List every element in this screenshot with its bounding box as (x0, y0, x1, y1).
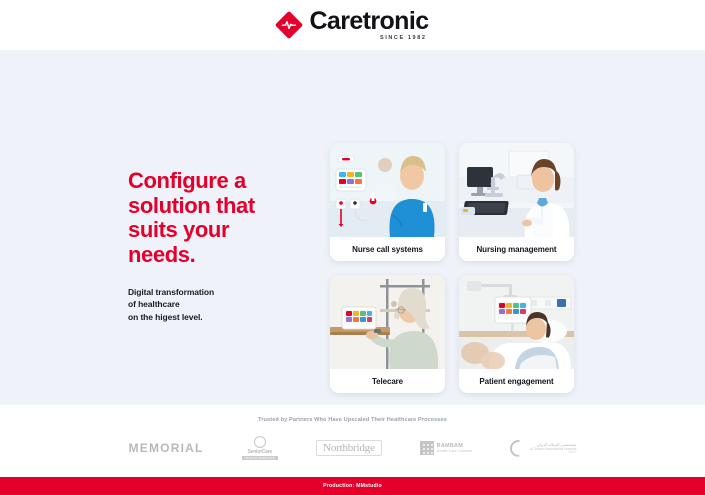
card-telecare[interactable]: Telecare (330, 275, 445, 393)
partner-logo-row: MEMORIAL SeniorCare HEALTH SERVICES Nort… (0, 436, 705, 460)
partner-sub-rambam: Health Care Campus (437, 449, 472, 453)
partner-sub-alsalam: 1982 (568, 451, 576, 455)
crescent-icon (510, 440, 527, 457)
partner-logo-rambam: RAMBAM Health Care Campus (420, 441, 472, 455)
hero-title-line-3: suits your (128, 217, 229, 242)
card-label-telecare: Telecare (330, 369, 445, 393)
partner-name-northbridge: Northbridge (316, 440, 382, 456)
footer-credit: Production: MMstudio (323, 483, 382, 489)
card-image-nurse-call-systems (330, 143, 445, 237)
brand-logo[interactable]: Caretronic SINCE 1982 (276, 9, 428, 42)
hero-subtitle-line-2: of healthcare (128, 299, 180, 309)
hero-title-line-1: Configure a (128, 168, 246, 193)
hero-copy: Configure a solution that suits your nee… (128, 169, 303, 324)
page-title: Configure a solution that suits your nee… (128, 169, 303, 268)
partner-logo-alsalam: مستشفى السلام الدولي Al Salam Internatio… (510, 440, 576, 457)
partner-logo-seniorcare: SeniorCare HEALTH SERVICES (242, 436, 279, 460)
brand-wordmark: Caretronic (309, 9, 428, 34)
solution-card-grid: Nurse call systems (330, 143, 574, 393)
partners-section: Trusted by Partners Who Have Upscaled Th… (0, 405, 705, 477)
card-nursing-management[interactable]: Nursing management (459, 143, 574, 261)
hero-section: Configure a solution that suits your nee… (0, 50, 705, 405)
hero-subtitle-line-3: on the higest level. (128, 312, 203, 322)
seniorcare-ring-icon (254, 436, 266, 448)
partner-sub-seniorcare: HEALTH SERVICES (242, 456, 279, 460)
brand-tagline: SINCE 1982 (380, 36, 427, 42)
card-patient-engagement[interactable]: Patient engagement (459, 275, 574, 393)
rambam-emblem-icon (420, 441, 434, 455)
caretronic-diamond-pulse-icon (276, 12, 302, 38)
card-image-telecare (330, 275, 445, 369)
card-label-patient-engagement: Patient engagement (459, 369, 574, 393)
card-label-nursing-management: Nursing management (459, 237, 574, 261)
hero-subtitle-line-1: Digital transformation (128, 287, 214, 297)
partner-logo-northbridge: Northbridge (316, 440, 382, 456)
hero-subtitle: Digital transformation of healthcare on … (128, 286, 303, 324)
hero-title-line-4: needs. (128, 242, 195, 267)
page-root: Caretronic SINCE 1982 Configure a soluti… (0, 0, 705, 495)
card-nurse-call-systems[interactable]: Nurse call systems (330, 143, 445, 261)
card-label-nurse-call-systems: Nurse call systems (330, 237, 445, 261)
site-header: Caretronic SINCE 1982 (0, 0, 705, 50)
card-image-patient-engagement (459, 275, 574, 369)
partner-logo-memorial: MEMORIAL (129, 441, 204, 455)
brand-wordmark-group: Caretronic SINCE 1982 (309, 9, 428, 42)
hero-title-line-2: solution that (128, 193, 255, 218)
partner-name-memorial: MEMORIAL (129, 441, 204, 455)
card-image-nursing-management (459, 143, 574, 237)
partner-name-seniorcare: SeniorCare (247, 449, 272, 455)
partners-title: Trusted by Partners Who Have Upscaled Th… (0, 405, 705, 423)
site-footer: Production: MMstudio (0, 477, 705, 495)
